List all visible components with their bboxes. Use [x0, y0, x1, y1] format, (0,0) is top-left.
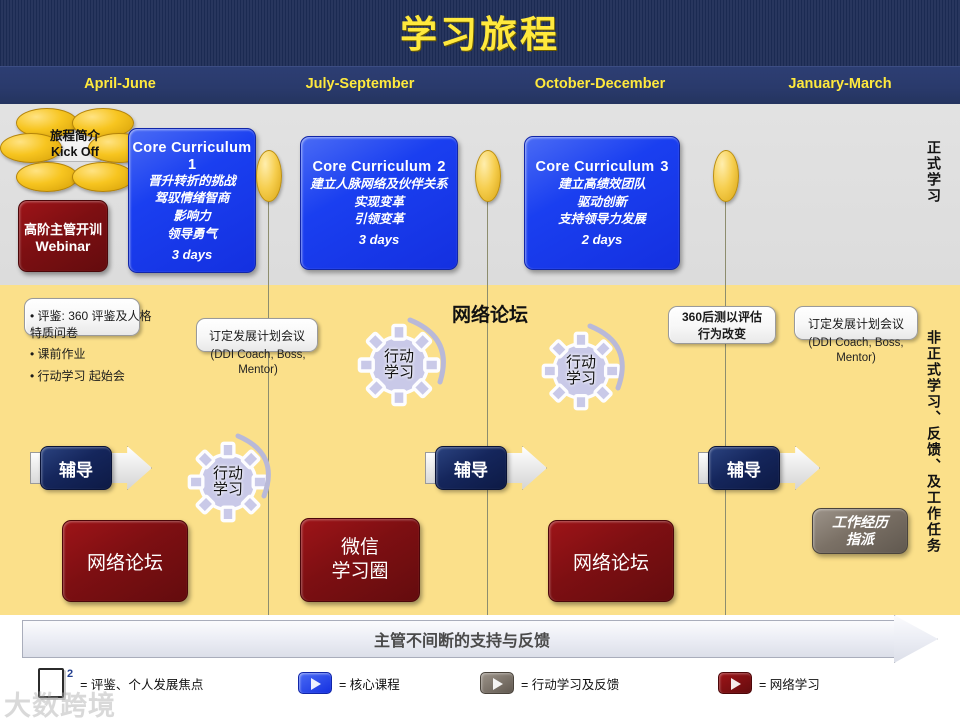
coaching-1-arrow-icon [106, 446, 152, 490]
milestone-marker-1 [256, 150, 282, 202]
webinar-line1: 高阶主管开训 [24, 219, 102, 238]
cc1-topic-4: 领导勇气 [167, 226, 217, 244]
red-box-2-line1: 微信 [341, 536, 379, 560]
coaching-2-arrow-icon [501, 446, 547, 490]
legend-item-action-learning: = 行动学习及反馈 [480, 672, 619, 694]
page-title: 学习旅程 [0, 4, 960, 58]
kickoff-label-cn: 旅程简介 [30, 129, 120, 145]
red-box-2[interactable]: 微信 学习圈 [300, 518, 420, 602]
legend-item-core-curriculum: = 核心课程 [298, 672, 400, 694]
legend-item-online-learning: = 网络学习 [718, 672, 820, 694]
assessment-bullet-1: • 评鉴: 360 评鉴及人格特质问卷 [30, 308, 152, 341]
cc1-days: 3 days [172, 247, 212, 262]
assessment-bullet-2: • 课前作业 [30, 346, 152, 363]
red-arrow-icon [718, 672, 752, 694]
core-curriculum-2[interactable]: Core Curriculum 2 建立人脉网络及伙伴关系 实现变革 引领变革 … [300, 136, 458, 270]
cc2-topic-3: 引领变革 [354, 211, 404, 229]
cc2-days: 3 days [359, 232, 399, 247]
legend-label-core-curriculum: = 核心课程 [339, 674, 400, 693]
coaching-3-label: 辅导 [708, 446, 780, 490]
cc2-topic-1: 建立人脉网络及伙伴关系 [310, 176, 448, 194]
timeline-divider-1 [268, 150, 269, 615]
timeline-divider-2 [487, 150, 488, 615]
learning-journey-diagram: 学习旅程 April-June July-September October-D… [0, 0, 960, 720]
dev-plan-2-line1: 订定发展计划会议 [808, 315, 904, 332]
milestone-marker-3 [713, 150, 739, 202]
kickoff-oval-5 [16, 162, 78, 192]
cc3-topic-2: 驱动创新 [577, 194, 627, 212]
cc1-topic-2: 驾驭情绪智商 [154, 190, 229, 208]
cc3-title: Core Curriculum [536, 159, 655, 175]
period-label-q3: October-December [500, 72, 700, 96]
red-box-1-line1: 网络论坛 [87, 548, 163, 575]
gear-1-arc-icon [404, 312, 466, 388]
post-assessment-line1: 360后测以评估 [682, 308, 762, 325]
cc2-number: 2 [437, 159, 445, 175]
cc3-days: 2 days [582, 232, 622, 247]
coaching-badge-3[interactable]: 辅导 [698, 446, 822, 490]
cc1-number: 1 [188, 157, 196, 173]
period-label-q4: January-March [740, 72, 940, 96]
core-curriculum-3[interactable]: Core Curriculum 3 建立高绩效团队 驱动创新 支持领导力发展 2… [524, 136, 680, 270]
webinar-line2: Webinar [36, 238, 91, 254]
legend-label-online-learning: = 网络学习 [759, 674, 820, 693]
coaching-3-arrow-icon [774, 446, 820, 490]
post-assessment-line2: 行为改变 [698, 325, 746, 342]
kickoff-label-en: Kick Off [30, 145, 120, 161]
cc1-topic-1: 晋升转折的挑战 [148, 173, 236, 191]
watermark: 大数跨境 [4, 684, 116, 723]
post-assessment-box[interactable]: 360后测以评估 行为改变 [668, 306, 776, 344]
kickoff-label: 旅程简介 Kick Off [30, 129, 120, 160]
cc1-title: Core Curriculum [133, 140, 252, 156]
coaching-1-label: 辅导 [40, 446, 112, 490]
red-box-1[interactable]: 网络论坛 [62, 520, 188, 602]
red-box-2-line2: 学习圈 [331, 560, 388, 584]
period-label-q1: April-June [20, 72, 220, 96]
cc1-topic-3: 影响力 [173, 208, 211, 226]
gear-3-arc-icon [232, 428, 290, 502]
assessment-bullet-3: • 行动学习 起始会 [30, 368, 152, 385]
side-label-informal: 非正式学习、反馈、及工作任务 [924, 330, 944, 554]
dev-plan-1-line1: 订定发展计划会议 [209, 327, 305, 344]
webinar-box[interactable]: 高阶主管开训 Webinar [18, 200, 108, 272]
coaching-badge-2[interactable]: 辅导 [425, 446, 549, 490]
timeline-divider-3 [725, 150, 726, 615]
work-assignment-line1: 工作经历 [832, 514, 888, 531]
assessment-bullets: • 评鉴: 360 评鉴及人格特质问卷 • 课前作业 • 行动学习 起始会 [30, 308, 152, 389]
dev-plan-meeting-1[interactable]: 订定发展计划会议 [196, 318, 318, 352]
brown-arrow-icon [480, 672, 514, 694]
support-banner-text: 主管不间断的支持与反馈 [22, 620, 902, 658]
cc2-topic-2: 实现变革 [354, 194, 404, 212]
cc3-topic-1: 建立高绩效团队 [558, 176, 646, 194]
dev-plan-meeting-2[interactable]: 订定发展计划会议 [794, 306, 918, 340]
coaching-badge-1[interactable]: 辅导 [30, 446, 154, 490]
dev-plan-1-line2: (DDI Coach, Boss, Mentor) [196, 348, 320, 378]
cc2-title: Core Curriculum [313, 159, 432, 175]
red-box-3-line1: 网络论坛 [573, 548, 649, 575]
work-assignment-box[interactable]: 工作经历 指派 [812, 508, 908, 554]
work-assignment-line2: 指派 [846, 531, 874, 548]
gear-2-arc-icon [584, 318, 644, 394]
red-box-3[interactable]: 网络论坛 [548, 520, 674, 602]
coaching-2-label: 辅导 [435, 446, 507, 490]
core-curriculum-1[interactable]: Core Curriculum 1 晋升转折的挑战 驾驭情绪智商 影响力 领导勇… [128, 128, 256, 273]
legend-superscript: 2 [67, 668, 73, 680]
cc3-number: 3 [660, 159, 668, 175]
side-label-formal: 正式学习 [924, 140, 944, 204]
legend-label-action-learning: = 行动学习及反馈 [521, 674, 619, 693]
milestone-marker-2 [475, 150, 501, 202]
support-banner: 主管不间断的支持与反馈 [22, 620, 938, 658]
period-label-q2: July-September [260, 72, 460, 96]
cc3-topic-3: 支持领导力发展 [558, 211, 646, 229]
kickoff-oval-6 [72, 162, 134, 192]
dev-plan-2-line2: (DDI Coach, Boss, Mentor) [792, 336, 920, 366]
blue-arrow-icon [298, 672, 332, 694]
